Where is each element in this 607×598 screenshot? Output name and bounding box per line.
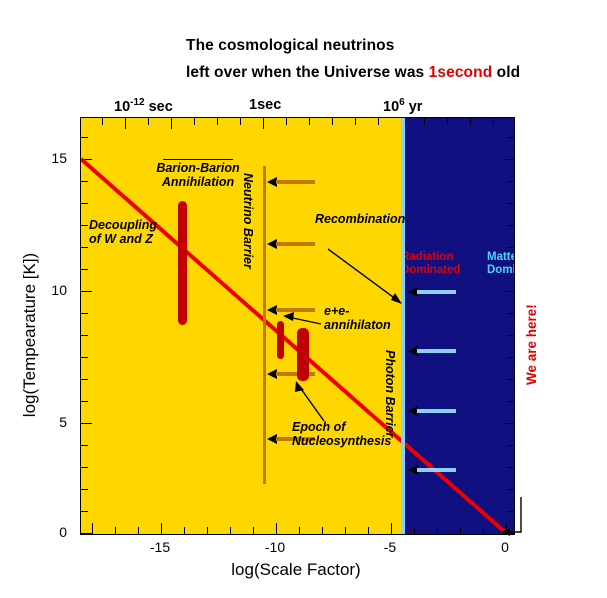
top-tick	[171, 118, 172, 129]
neutrino-barrier-line	[263, 166, 266, 484]
y-tick-label: 10	[39, 282, 67, 298]
left-tick	[81, 313, 88, 314]
right-tick	[503, 291, 514, 292]
right-tick	[503, 159, 514, 160]
bottom-tick	[161, 523, 162, 534]
left-tick	[81, 291, 92, 292]
left-tick	[81, 269, 88, 270]
arrow-shaft	[417, 409, 456, 413]
left-tick	[81, 181, 88, 182]
bottom-tick	[414, 527, 415, 534]
top-axis-label-2-base: 1	[249, 97, 257, 113]
right-tick	[507, 203, 514, 204]
left-tick	[81, 467, 88, 468]
left-tick	[81, 379, 88, 380]
epluseminus-label: e+e- annihilaton	[324, 304, 391, 332]
we-are-here-label: We are here!	[524, 304, 539, 385]
arrow-shaft	[417, 349, 456, 353]
photon-arrow	[408, 466, 456, 473]
left-tick	[81, 137, 88, 138]
top-axis-label-1: 10-12 sec	[114, 97, 173, 115]
barion-overline	[163, 159, 233, 160]
top-tick	[125, 118, 126, 129]
top-axis-label-3-base: 10	[383, 99, 399, 115]
radiation-dominated-line1: Radiation	[401, 251, 453, 263]
bottom-tick	[207, 527, 208, 534]
x-tick-label: -5	[384, 539, 396, 555]
bottom-tick	[345, 527, 346, 534]
top-axis-label-3-unit: yr	[405, 99, 423, 115]
nucleosynthesis-line1: Epoch of	[292, 420, 345, 434]
bottom-tick	[184, 527, 185, 534]
left-tick	[81, 401, 88, 402]
barion-annihilation-line2: Annihilation	[162, 175, 234, 189]
top-tick	[263, 118, 264, 129]
top-tick	[286, 118, 287, 125]
x-tick-label: -10	[265, 539, 285, 555]
decoupling-line1: Decoupling	[89, 218, 157, 232]
decoupling-line2: of W and Z	[89, 232, 153, 246]
matter-dominated-line1: Matter	[487, 251, 515, 263]
epluseminus-line2: annihilaton	[324, 318, 391, 332]
right-tick	[507, 511, 514, 512]
top-tick	[424, 118, 425, 125]
bottom-tick	[115, 527, 116, 534]
nucleosynthesis-line2: Nucleosynthesis	[292, 434, 391, 448]
right-tick	[507, 225, 514, 226]
matter-dominated-line2: Dominated	[487, 264, 515, 276]
top-tick	[493, 118, 494, 125]
title-accent: 1second	[429, 64, 493, 81]
top-tick	[447, 118, 448, 125]
arrow-shaft	[276, 242, 315, 246]
arrow-shaft	[276, 372, 315, 376]
top-axis-label-2-unit: sec	[257, 97, 281, 113]
y-tick-label: 0	[47, 524, 67, 540]
top-axis-label-1-base: 10	[114, 99, 130, 115]
decoupling-label: Decoupling of W and Z	[89, 218, 157, 246]
barion-annihilation-bar	[178, 201, 187, 325]
y-axis-title: log(Tempearature [K])	[20, 225, 40, 445]
left-tick	[81, 159, 92, 160]
right-tick	[507, 379, 514, 380]
left-tick	[81, 489, 88, 490]
photon-arrow	[408, 407, 456, 414]
right-tick	[507, 445, 514, 446]
top-axis-label-1-unit: sec	[145, 99, 173, 115]
photon-arrow	[408, 288, 456, 295]
bottom-tick	[322, 527, 323, 534]
top-tick	[240, 118, 241, 125]
nucleosynthesis-label: Epoch of Nucleosynthesis	[292, 420, 391, 448]
bottom-tick	[368, 527, 369, 534]
x-tick-label: -15	[150, 539, 170, 555]
bottom-tick	[460, 527, 461, 534]
epluseminus-annihilation-bar	[277, 321, 284, 359]
top-axis-label-3: 106 yr	[383, 97, 422, 115]
right-tick	[503, 533, 514, 534]
top-axis-label-2: 1sec	[249, 97, 281, 113]
right-tick	[507, 181, 514, 182]
barion-annihilation-label: Barion-Barion Annihilation	[128, 159, 268, 189]
left-tick	[81, 423, 92, 424]
title-prefix: left over when the Universe was	[186, 64, 429, 81]
bottom-tick	[483, 527, 484, 534]
arrow-shaft	[276, 180, 315, 184]
radiation-dominated-label: Radiation Dominated	[401, 251, 460, 277]
barion-annihilation-line1: Barion-Barion	[156, 161, 239, 175]
radiation-dominated-line2: Dominated	[401, 264, 460, 276]
left-tick	[81, 203, 88, 204]
left-tick	[81, 247, 88, 248]
photon-barrier-line	[401, 118, 405, 534]
bottom-tick	[138, 527, 139, 534]
arrow-shaft	[417, 468, 456, 472]
right-tick	[507, 489, 514, 490]
top-tick	[332, 118, 333, 125]
figure-canvas: The cosmological neutrinos left over whe…	[0, 0, 607, 598]
right-tick	[503, 423, 514, 424]
bottom-tick	[253, 527, 254, 534]
figure-title-line-2: left over when the Universe was 1second …	[186, 64, 520, 82]
right-tick	[507, 401, 514, 402]
x-axis-title: log(Scale Factor)	[231, 560, 360, 580]
right-tick	[507, 313, 514, 314]
plot-area: Radiation Dominated Matter Dominated Neu…	[80, 117, 515, 535]
recombination-label: Recombination	[315, 212, 405, 226]
top-tick	[194, 118, 195, 125]
arrow-shaft	[417, 290, 456, 294]
left-tick	[81, 335, 88, 336]
top-tick	[470, 118, 471, 125]
bottom-tick	[299, 527, 300, 534]
top-tick	[378, 118, 379, 125]
nucleosynthesis-bar	[297, 328, 309, 381]
neutrino-arrow	[267, 240, 315, 247]
left-tick	[81, 225, 88, 226]
bottom-tick	[391, 523, 392, 534]
left-tick	[81, 533, 92, 534]
left-tick	[81, 511, 88, 512]
bottom-tick	[92, 523, 93, 534]
title-suffix: old	[492, 64, 520, 81]
arrow-shaft	[276, 308, 315, 312]
epluseminus-line1: e+e-	[324, 304, 349, 318]
top-tick	[309, 118, 310, 125]
left-tick	[81, 445, 88, 446]
bottom-tick	[437, 527, 438, 534]
neutrino-arrow	[267, 306, 315, 313]
matter-dominated-label: Matter Dominated	[487, 251, 515, 277]
right-tick	[507, 335, 514, 336]
top-tick	[217, 118, 218, 125]
right-tick	[507, 357, 514, 358]
top-tick	[355, 118, 356, 125]
top-axis-label-1-exp: -12	[130, 97, 144, 108]
neutrino-arrow	[267, 178, 315, 185]
photon-arrow	[408, 347, 456, 354]
x-tick-label: 0	[501, 539, 509, 555]
right-tick	[507, 247, 514, 248]
right-tick	[507, 137, 514, 138]
top-tick	[102, 118, 103, 125]
bottom-tick	[230, 527, 231, 534]
figure-title-line-1: The cosmological neutrinos	[186, 37, 394, 55]
y-tick-label: 5	[47, 414, 67, 430]
top-tick	[148, 118, 149, 125]
right-tick	[507, 467, 514, 468]
left-tick	[81, 357, 88, 358]
bottom-tick	[276, 523, 277, 534]
y-tick-label: 15	[39, 150, 67, 166]
